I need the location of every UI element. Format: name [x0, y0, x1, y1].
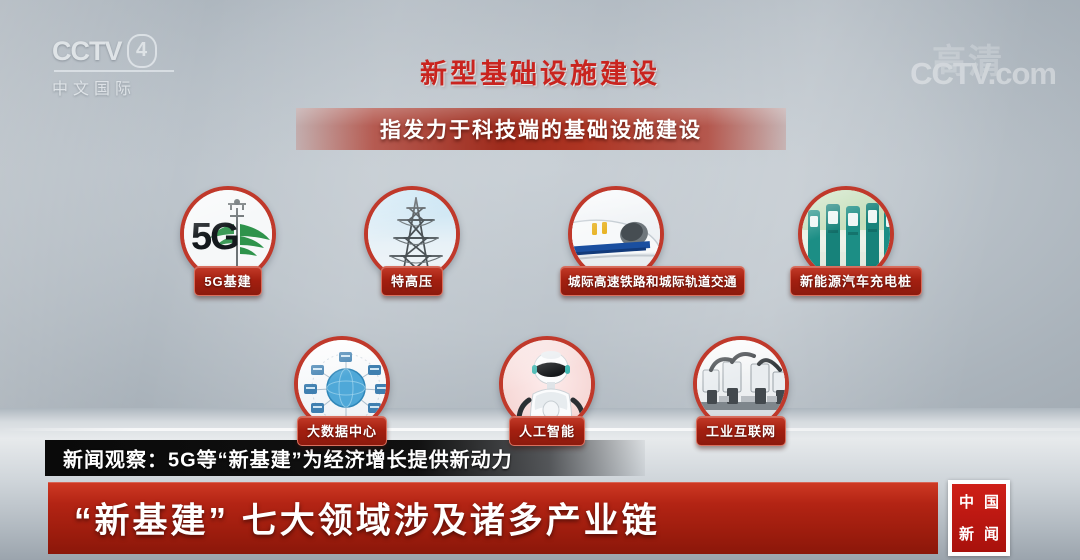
program-logo-char-3: 新 [955, 519, 978, 549]
headline-bar: “新基建” 七大领域涉及诸多产业链 [48, 482, 938, 554]
node-bigdata[interactable]: 大数据中心 [286, 336, 398, 446]
node-label-5g[interactable]: 5G基建 [194, 266, 261, 296]
graphic-heading: 新型基础设施建设 [0, 52, 1080, 91]
node-label-rail[interactable]: 城际高速铁路和城际轨道交通 [560, 266, 745, 296]
node-label-uhv[interactable]: 特高压 [381, 266, 443, 296]
node-iiot[interactable]: 工业互联网 [685, 336, 797, 446]
node-label-bigdata[interactable]: 大数据中心 [297, 416, 387, 446]
node-label-ai[interactable]: 人工智能 [509, 416, 585, 446]
graphic-subtitle-bar: 指发力于科技端的基础设施建设 [296, 108, 786, 150]
node-rail[interactable]: 城际高速铁路和城际轨道交通 [560, 186, 672, 296]
node-charging[interactable]: 新能源汽车充电桩 [790, 186, 902, 296]
node-label-iiot[interactable]: 工业互联网 [696, 416, 786, 446]
broadcast-screen: CCTV 4 中文国际 高清 CCTV.com 新型基础设施建设 指发力于科技端… [0, 0, 1080, 560]
program-logo-char-1: 中 [955, 487, 978, 517]
headline-text: “新基建” 七大领域涉及诸多产业链 [74, 493, 660, 544]
node-uhv[interactable]: 特高压 [356, 186, 468, 296]
news-ticker-text: 新闻观察：5G等“新基建”为经济增长提供新动力 [63, 444, 513, 473]
program-logo-char-2: 国 [980, 487, 1003, 517]
program-logo-char-4: 闻 [980, 519, 1003, 549]
node-label-charging[interactable]: 新能源汽车充电桩 [790, 266, 922, 296]
5g-label-art: 5G [191, 216, 238, 259]
node-5g[interactable]: 5G 5G基建 [172, 186, 284, 296]
program-logo: 中 国 新 闻 [948, 480, 1010, 556]
graphic-subtitle-text: 指发力于科技端的基础设施建设 [380, 114, 702, 144]
node-ai[interactable]: 人工智能 [491, 336, 603, 446]
